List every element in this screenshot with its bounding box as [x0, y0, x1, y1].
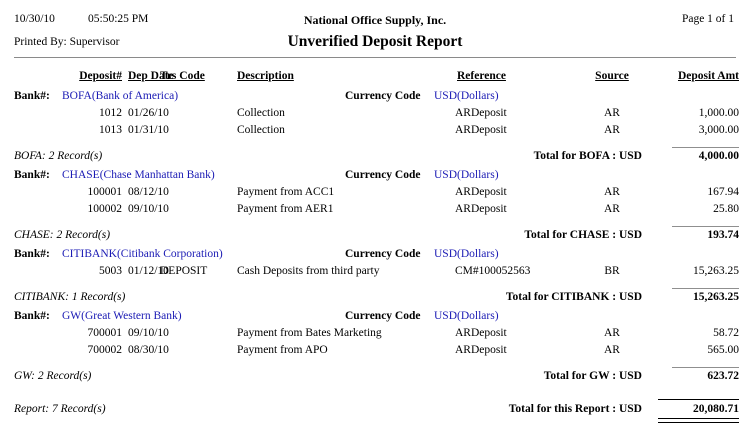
cell-reference: ARDeposit	[455, 344, 507, 356]
grand-total-rule-top	[658, 399, 739, 400]
cell-dep-date: 08/12/10	[128, 186, 169, 198]
cell-reference: ARDeposit	[455, 327, 507, 339]
table-row[interactable]: 100001 08/12/10 Payment from ACC1 ARDepo…	[0, 186, 750, 203]
bank-total-label: Total for GW : USD	[544, 370, 642, 382]
cell-deposit-no: 1013	[38, 124, 122, 136]
cell-trs-code: DEPOSIT	[160, 265, 207, 277]
cell-reference: ARDeposit	[455, 203, 507, 215]
cell-description: Cash Deposits from third party	[237, 265, 379, 277]
currency-code-value[interactable]: USD(Dollars)	[434, 310, 499, 322]
table-row[interactable]: 5003 01/12/10 DEPOSIT Cash Deposits from…	[0, 265, 750, 282]
column-header-source: Source	[592, 70, 632, 82]
bank-name[interactable]: CITIBANK(Citibank Corporation)	[62, 248, 223, 260]
grand-total-rule-bottom	[658, 418, 739, 423]
cell-reference: ARDeposit	[455, 107, 507, 119]
bank-group-total: CITIBANK: 1 Record(s) Total for CITIBANK…	[0, 291, 750, 310]
table-row[interactable]: 700001 09/10/10 Payment from Bates Marke…	[0, 327, 750, 344]
bank-name[interactable]: BOFA(Bank of America)	[62, 90, 178, 102]
row-spacer	[0, 389, 750, 398]
cell-description: Collection	[237, 107, 285, 119]
cell-description: Payment from Bates Marketing	[237, 327, 382, 339]
bank-record-count: CHASE: 2 Record(s)	[14, 229, 110, 241]
cell-deposit-no: 100002	[38, 203, 122, 215]
report-body: Deposit# Dep Date Trs Code Description R…	[0, 70, 750, 422]
currency-code-value[interactable]: USD(Dollars)	[434, 248, 499, 260]
cell-reference: CM#100052563	[455, 265, 530, 277]
cell-deposit-amt: 565.00	[645, 344, 739, 356]
row-spacer	[0, 282, 750, 291]
row-spacer	[0, 220, 750, 229]
currency-code-value[interactable]: USD(Dollars)	[434, 90, 499, 102]
cell-deposit-no: 1012	[38, 107, 122, 119]
cell-deposit-no: 700002	[38, 344, 122, 356]
bank-no-label: Bank#:	[14, 248, 50, 260]
bank-total-amount: 15,263.25	[645, 291, 739, 303]
subtotal-rule	[672, 226, 739, 227]
bank-total-label: Total for CHASE : USD	[524, 229, 642, 241]
report-total-amount: 20,080.71	[645, 403, 739, 415]
cell-dep-date: 09/10/10	[128, 327, 169, 339]
cell-dep-date: 01/31/10	[128, 124, 169, 136]
bank-name[interactable]: GW(Great Western Bank)	[62, 310, 182, 322]
cell-deposit-amt: 15,263.25	[645, 265, 739, 277]
cell-description: Collection	[237, 124, 285, 136]
currency-code-label: Currency Code	[345, 248, 421, 260]
bank-total-amount: 623.72	[645, 370, 739, 382]
bank-total-label: Total for BOFA : USD	[534, 150, 642, 162]
column-header-description: Description	[237, 70, 294, 82]
cell-source: AR	[592, 327, 632, 339]
report-header: 10/30/10 05:50:25 PM National Office Sup…	[0, 0, 750, 58]
cell-source: AR	[592, 203, 632, 215]
currency-code-label: Currency Code	[345, 90, 421, 102]
cell-source: AR	[592, 186, 632, 198]
bank-total-label: Total for CITIBANK : USD	[506, 291, 642, 303]
column-header-deposit-no: Deposit#	[38, 70, 122, 82]
cell-deposit-no: 5003	[38, 265, 122, 277]
bank-record-count: BOFA: 2 Record(s)	[14, 150, 102, 162]
bank-record-count: GW: 2 Record(s)	[14, 370, 91, 382]
cell-deposit-no: 100001	[38, 186, 122, 198]
cell-reference: ARDeposit	[455, 124, 507, 136]
report-record-count: Report: 7 Record(s)	[14, 403, 106, 415]
bank-group-header: Bank#: CITIBANK(Citibank Corporation) Cu…	[0, 248, 750, 265]
cell-source: AR	[592, 107, 632, 119]
cell-source: BR	[592, 265, 632, 277]
report-total-label: Total for this Report : USD	[509, 403, 642, 415]
bank-no-label: Bank#:	[14, 169, 50, 181]
table-row[interactable]: 700002 08/30/10 Payment from APO ARDepos…	[0, 344, 750, 361]
bank-total-amount: 193.74	[645, 229, 739, 241]
cell-deposit-amt: 58.72	[645, 327, 739, 339]
bank-no-label: Bank#:	[14, 90, 50, 102]
cell-dep-date: 08/30/10	[128, 344, 169, 356]
page-indicator: Page 1 of 1	[682, 13, 734, 25]
cell-dep-date: 09/10/10	[128, 203, 169, 215]
subtotal-rule	[672, 367, 739, 368]
bank-no-label: Bank#:	[14, 310, 50, 322]
bank-group-header: Bank#: BOFA(Bank of America) Currency Co…	[0, 90, 750, 107]
column-header-deposit-amt: Deposit Amt	[645, 70, 739, 82]
row-spacer	[0, 141, 750, 150]
cell-deposit-amt: 3,000.00	[645, 124, 739, 136]
company-name: National Office Supply, Inc.	[0, 13, 750, 28]
cell-source: AR	[592, 124, 632, 136]
cell-deposit-amt: 25.80	[645, 203, 739, 215]
cell-deposit-no: 700001	[38, 327, 122, 339]
column-header-reference: Reference	[457, 70, 506, 82]
cell-description: Payment from ACC1	[237, 186, 334, 198]
subtotal-rule	[672, 288, 739, 289]
table-row[interactable]: 1013 01/31/10 Collection ARDeposit AR 3,…	[0, 124, 750, 141]
currency-code-label: Currency Code	[345, 310, 421, 322]
bank-group-total: GW: 2 Record(s) Total for GW : USD 623.7…	[0, 370, 750, 389]
header-divider	[14, 57, 736, 58]
bank-group-header: Bank#: CHASE(Chase Manhattan Bank) Curre…	[0, 169, 750, 186]
bank-total-amount: 4,000.00	[645, 150, 739, 162]
cell-deposit-amt: 167.94	[645, 186, 739, 198]
bank-group-header: Bank#: GW(Great Western Bank) Currency C…	[0, 310, 750, 327]
currency-code-label: Currency Code	[345, 169, 421, 181]
table-row[interactable]: 100002 09/10/10 Payment from AER1 ARDepo…	[0, 203, 750, 220]
table-column-headers: Deposit# Dep Date Trs Code Description R…	[0, 70, 750, 90]
bank-group-total: CHASE: 2 Record(s) Total for CHASE : USD…	[0, 229, 750, 248]
cell-description: Payment from APO	[237, 344, 328, 356]
subtotal-rule	[672, 147, 739, 148]
bank-name[interactable]: CHASE(Chase Manhattan Bank)	[62, 169, 215, 181]
table-row[interactable]: 1012 01/26/10 Collection ARDeposit AR 1,…	[0, 107, 750, 124]
row-spacer	[0, 361, 750, 370]
bank-record-count: CITIBANK: 1 Record(s)	[14, 291, 125, 303]
column-header-trs-code: Trs Code	[160, 70, 205, 82]
report-page: 10/30/10 05:50:25 PM National Office Sup…	[0, 0, 750, 413]
cell-deposit-amt: 1,000.00	[645, 107, 739, 119]
cell-dep-date: 01/26/10	[128, 107, 169, 119]
bank-group-total: BOFA: 2 Record(s) Total for BOFA : USD 4…	[0, 150, 750, 169]
cell-source: AR	[592, 344, 632, 356]
currency-code-value[interactable]: USD(Dollars)	[434, 169, 499, 181]
cell-reference: ARDeposit	[455, 186, 507, 198]
cell-description: Payment from AER1	[237, 203, 333, 215]
page-title: Unverified Deposit Report	[0, 33, 750, 51]
